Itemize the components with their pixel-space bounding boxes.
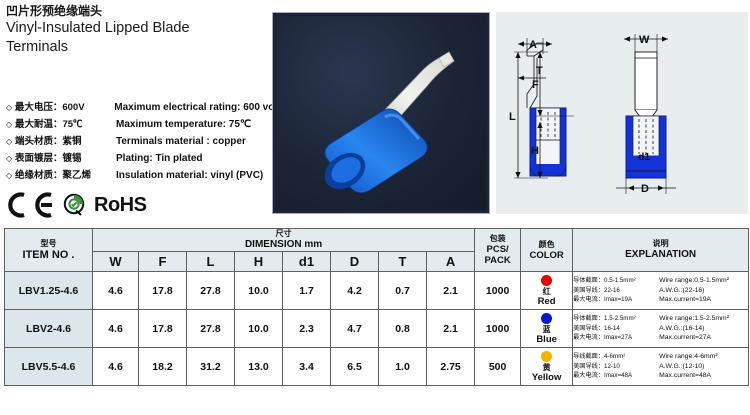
table-row: LBV2-4.6 4.6 17.8 27.8 10.0 2.3 4.7 0.8 …: [5, 310, 749, 348]
cell-l: 31.2: [187, 348, 235, 386]
cell-w: 4.6: [93, 310, 139, 348]
expl-en: A.W.G.:(22-16): [659, 286, 704, 296]
cell-pcs-pack: 1000: [475, 272, 521, 310]
explanation-line: 导体截面：0.5-1.5mm² Wire range:0.5-1.5mm²: [573, 276, 748, 286]
color-swatch: [541, 351, 552, 362]
cell-h: 10.0: [235, 310, 283, 348]
ce-mark-icon: [4, 192, 56, 218]
cell-d: 6.5: [331, 348, 379, 386]
cell-explanation: 导线截面：4-6mm² Wire range:4-6mm² 美国导线：12-10…: [573, 348, 749, 386]
spec-item: ◇ 最大耐温：75℃ Maximum temperature: 75℃: [6, 116, 286, 133]
product-illustration: [273, 13, 490, 214]
header-col-t: T: [379, 252, 427, 272]
header-dimension: 尺寸 DIMENSION mm: [93, 229, 475, 252]
svg-text:D: D: [641, 183, 649, 195]
header-col-h: H: [235, 252, 283, 272]
header-color-en: COLOR: [521, 250, 572, 261]
spec-label-cn: 端头材质：紫铜: [15, 133, 116, 147]
cell-l: 27.8: [187, 272, 235, 310]
cell-d1: 3.4: [283, 348, 331, 386]
cell-d1: 1.7: [283, 272, 331, 310]
expl-cn: 美国导线：12-10: [573, 362, 659, 372]
expl-en: Wire range:1.5-2.5mm²: [659, 314, 729, 324]
header-col-f: F: [139, 252, 187, 272]
header-explanation-en: EXPLANATION: [573, 249, 748, 261]
expl-en: Max.current=19A: [659, 295, 711, 305]
spec-item: ◇ 绝缘材质：聚乙烯 Insulation material: vinyl (P…: [6, 167, 286, 184]
header-color-cn: 颜色: [521, 240, 572, 250]
expl-cn: 导体截面：1.5-2.5mm²: [573, 314, 659, 324]
expl-en: Max.current=48A: [659, 371, 711, 381]
spec-item: ◇ 端头材质：紫铜 Terminals material : copper: [6, 133, 286, 150]
cell-color: 蓝 Blue: [521, 310, 573, 348]
header-item-no: 型号 ITEM NO .: [5, 229, 93, 272]
spec-label-cn: 绝缘材质：聚乙烯: [15, 167, 116, 181]
cell-h: 13.0: [235, 348, 283, 386]
header-col-a: A: [427, 252, 475, 272]
expl-cn: 导线截面：4-6mm²: [573, 352, 659, 362]
svg-text:W: W: [639, 34, 650, 46]
expl-cn: 最大电流：Imax=19A: [573, 295, 659, 305]
cell-pcs-pack: 1000: [475, 310, 521, 348]
spec-label-en: Insulation material: vinyl (PVC): [116, 170, 263, 181]
cell-a: 2.75: [427, 348, 475, 386]
header-explanation-cn: 说明: [573, 239, 748, 249]
cell-t: 1.0: [379, 348, 427, 386]
header-col-w: W: [93, 252, 139, 272]
spec-label-cn: 表面镀层：镀锡: [15, 150, 116, 164]
title-english-line2: Terminals: [6, 39, 268, 56]
specification-list: ◇ 最大电压：600V Maximum electrical rating: 6…: [6, 99, 286, 184]
top-section: 凹片形预绝缘端头 Vinyl-Insulated Lipped Blade Te…: [0, 0, 750, 228]
expl-cn: 导体截面：0.5-1.5mm²: [573, 276, 659, 286]
cell-explanation: 导体截面：1.5-2.5mm² Wire range:1.5-2.5mm² 美国…: [573, 310, 749, 348]
color-swatch: [541, 313, 552, 324]
table-header-row-1: 型号 ITEM NO . 尺寸 DIMENSION mm 包装 PCS/ PAC…: [5, 229, 749, 252]
certification-marks: RoHS: [4, 192, 146, 218]
expl-en: Wire range:0.5-1.5mm²: [659, 276, 729, 286]
cell-l: 27.8: [187, 310, 235, 348]
explanation-line: 最大电流：Imax=19A Max.current=19A: [573, 295, 748, 305]
header-item-en: ITEM NO .: [5, 249, 92, 262]
header-col-d1: d1: [283, 252, 331, 272]
expl-cn: 美国导线：22-16: [573, 286, 659, 296]
cell-item-no: LBV5.5-4.6: [5, 348, 93, 386]
color-label-cn: 红: [521, 287, 572, 296]
cell-color: 黄 Yellow: [521, 348, 573, 386]
cert-circle-icon: [63, 193, 87, 217]
cell-color: 红 Red: [521, 272, 573, 310]
cell-item-no: LBV2-4.6: [5, 310, 93, 348]
spec-item: ◇ 表面镀层：镀锡 Plating: Tin plated: [6, 150, 286, 167]
bullet-icon: ◇: [6, 99, 15, 116]
cell-w: 4.6: [93, 272, 139, 310]
svg-text:L: L: [509, 111, 516, 123]
cell-item-no: LBV1.25-4.6: [5, 272, 93, 310]
title-chinese: 凹片形预绝缘端头: [6, 4, 268, 18]
spec-label-cn: 最大电压：600V: [15, 99, 114, 113]
svg-text:A: A: [529, 39, 537, 51]
svg-text:T: T: [536, 65, 543, 77]
expl-cn: 美国导线：16-14: [573, 324, 659, 334]
explanation-line: 导体截面：1.5-2.5mm² Wire range:1.5-2.5mm²: [573, 314, 748, 324]
rohs-label: RoHS: [94, 194, 146, 217]
table-row: LBV1.25-4.6 4.6 17.8 27.8 10.0 1.7 4.2 0…: [5, 272, 749, 310]
explanation-line: 最大电流：Imax=48A Max.current=48A: [573, 371, 748, 381]
cell-f: 18.2: [139, 348, 187, 386]
header-col-l: L: [187, 252, 235, 272]
expl-en: Wire range:4-6mm²: [659, 352, 718, 362]
header-pcs-en-1: PCS/: [475, 244, 520, 255]
explanation-line: 美国导线：16-14 A.W.G.:(16-14): [573, 324, 748, 334]
cell-pcs-pack: 500: [475, 348, 521, 386]
svg-text:H: H: [531, 145, 539, 157]
cell-f: 17.8: [139, 272, 187, 310]
bullet-icon: ◇: [6, 116, 15, 133]
header-item-cn: 型号: [5, 239, 92, 249]
spec-label-en: Plating: Tin plated: [116, 153, 202, 164]
explanation-line: 导线截面：4-6mm² Wire range:4-6mm²: [573, 352, 748, 362]
cell-a: 2.1: [427, 310, 475, 348]
expl-en: A.W.G.:(16-14): [659, 324, 704, 334]
product-spec-sheet: 凹片形预绝缘端头 Vinyl-Insulated Lipped Blade Te…: [0, 0, 750, 415]
color-label-cn: 黄: [521, 363, 572, 372]
color-label-en: Red: [521, 296, 572, 307]
header-color: 颜色 COLOR: [521, 229, 573, 272]
color-label-en: Blue: [521, 334, 572, 345]
header-explanation: 说明 EXPLANATION: [573, 229, 749, 272]
cell-t: 0.7: [379, 272, 427, 310]
drawing-svg: A T: [496, 12, 748, 214]
header-pcs-pack: 包装 PCS/ PACK: [475, 229, 521, 272]
cell-explanation: 导体截面：0.5-1.5mm² Wire range:0.5-1.5mm² 美国…: [573, 272, 749, 310]
header-col-d: D: [331, 252, 379, 272]
cell-d: 4.7: [331, 310, 379, 348]
title-english-line1: Vinyl-Insulated Lipped Blade: [6, 20, 268, 37]
product-photo: [272, 12, 490, 214]
cell-f: 17.8: [139, 310, 187, 348]
expl-cn: 最大电流：Imax=27A: [573, 333, 659, 343]
svg-text:F: F: [532, 79, 539, 91]
explanation-line: 美国导线：22-16 A.W.G.:(22-16): [573, 286, 748, 296]
specification-table: 型号 ITEM NO . 尺寸 DIMENSION mm 包装 PCS/ PAC…: [4, 228, 749, 386]
color-label-cn: 蓝: [521, 325, 572, 334]
spec-label-cn: 最大耐温：75℃: [15, 116, 116, 130]
header-pcs-cn: 包装: [475, 234, 520, 244]
explanation-line: 美国导线：12-10 A.W.G.:(12-10): [573, 362, 748, 372]
cell-d: 4.2: [331, 272, 379, 310]
technical-drawings: A T: [496, 12, 748, 214]
spec-label-en: Maximum electrical rating: 600 volts: [114, 102, 286, 113]
bullet-icon: ◇: [6, 150, 15, 167]
spec-item: ◇ 最大电压：600V Maximum electrical rating: 6…: [6, 99, 286, 116]
page-title: 凹片形预绝缘端头 Vinyl-Insulated Lipped Blade Te…: [6, 4, 268, 56]
cell-d1: 2.3: [283, 310, 331, 348]
cell-h: 10.0: [235, 272, 283, 310]
cell-w: 4.6: [93, 348, 139, 386]
spec-label-en: Maximum temperature: 75℃: [116, 119, 251, 130]
spec-label-en: Terminals material : copper: [116, 136, 246, 147]
header-dimension-cn: 尺寸: [93, 229, 474, 239]
explanation-line: 最大电流：Imax=27A Max.current=27A: [573, 333, 748, 343]
bullet-icon: ◇: [6, 133, 15, 150]
expl-en: A.W.G.:(12-10): [659, 362, 704, 372]
header-pcs-en-2: PACK: [475, 255, 520, 266]
expl-cn: 最大电流：Imax=48A: [573, 371, 659, 381]
table-row: LBV5.5-4.6 4.6 18.2 31.2 13.0 3.4 6.5 1.…: [5, 348, 749, 386]
color-swatch: [541, 275, 552, 286]
cell-a: 2.1: [427, 272, 475, 310]
color-label-en: Yellow: [521, 372, 572, 383]
cell-t: 0.8: [379, 310, 427, 348]
expl-en: Max.current=27A: [659, 333, 711, 343]
header-dimension-en: DIMENSION mm: [93, 239, 474, 251]
bullet-icon: ◇: [6, 167, 15, 184]
svg-text:d1: d1: [638, 151, 650, 163]
